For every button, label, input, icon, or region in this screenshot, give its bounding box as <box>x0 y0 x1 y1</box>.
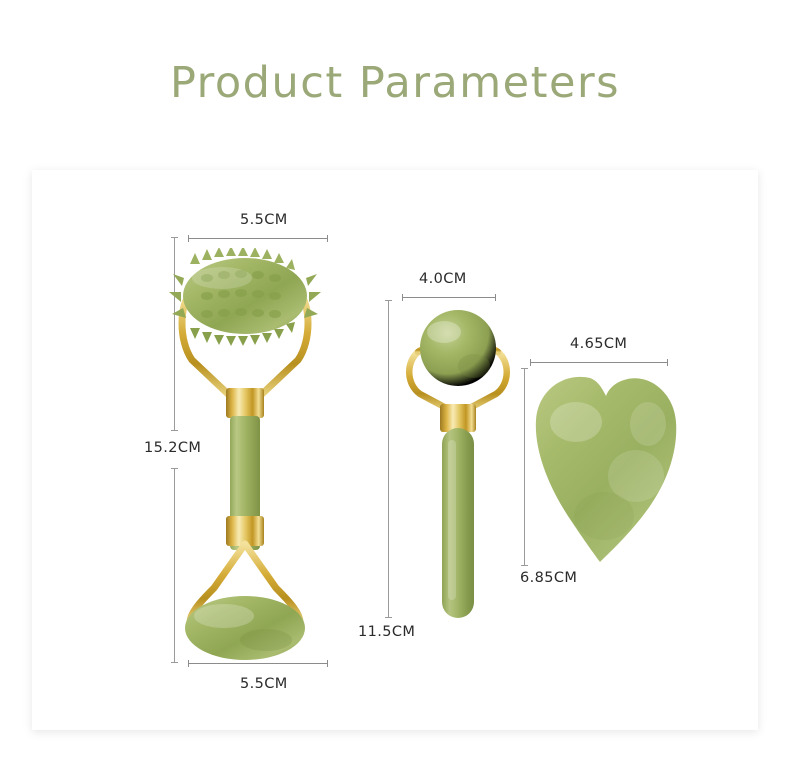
dim-label-large-roller-bottom-width: 5.5CM <box>240 676 288 692</box>
gua-sha-highlight-tertiary <box>630 402 666 446</box>
ball-roller-head <box>420 310 496 386</box>
gua-sha-highlight <box>550 402 602 442</box>
gua-sha-shade <box>574 492 634 540</box>
dim-line-small-roller-height <box>388 300 389 618</box>
dim-label-gua-sha-width: 4.65CM <box>570 336 627 352</box>
jade-handle <box>442 428 474 618</box>
dim-line-gua-sha-height <box>524 368 525 566</box>
oval-roller-head <box>185 596 305 660</box>
dim-line-small-roller-head-width <box>402 297 496 298</box>
gold-collar <box>440 404 476 432</box>
dim-line-gua-sha-width <box>530 362 668 363</box>
dim-label-small-roller-head-width: 4.0CM <box>419 271 467 287</box>
spiked-roller-head <box>169 248 321 346</box>
product-diagram: 5.5CM 15.2CM 5.5CM <box>0 0 790 781</box>
gua-sha-illustration <box>528 366 688 576</box>
gold-collar-top <box>226 388 264 418</box>
handle-highlight <box>448 440 456 600</box>
dim-line-large-roller-top-width <box>188 238 328 239</box>
single-head-roller-illustration <box>398 300 528 630</box>
dim-label-large-roller-top-width: 5.5CM <box>240 212 288 228</box>
dual-head-roller-illustration <box>162 248 362 668</box>
